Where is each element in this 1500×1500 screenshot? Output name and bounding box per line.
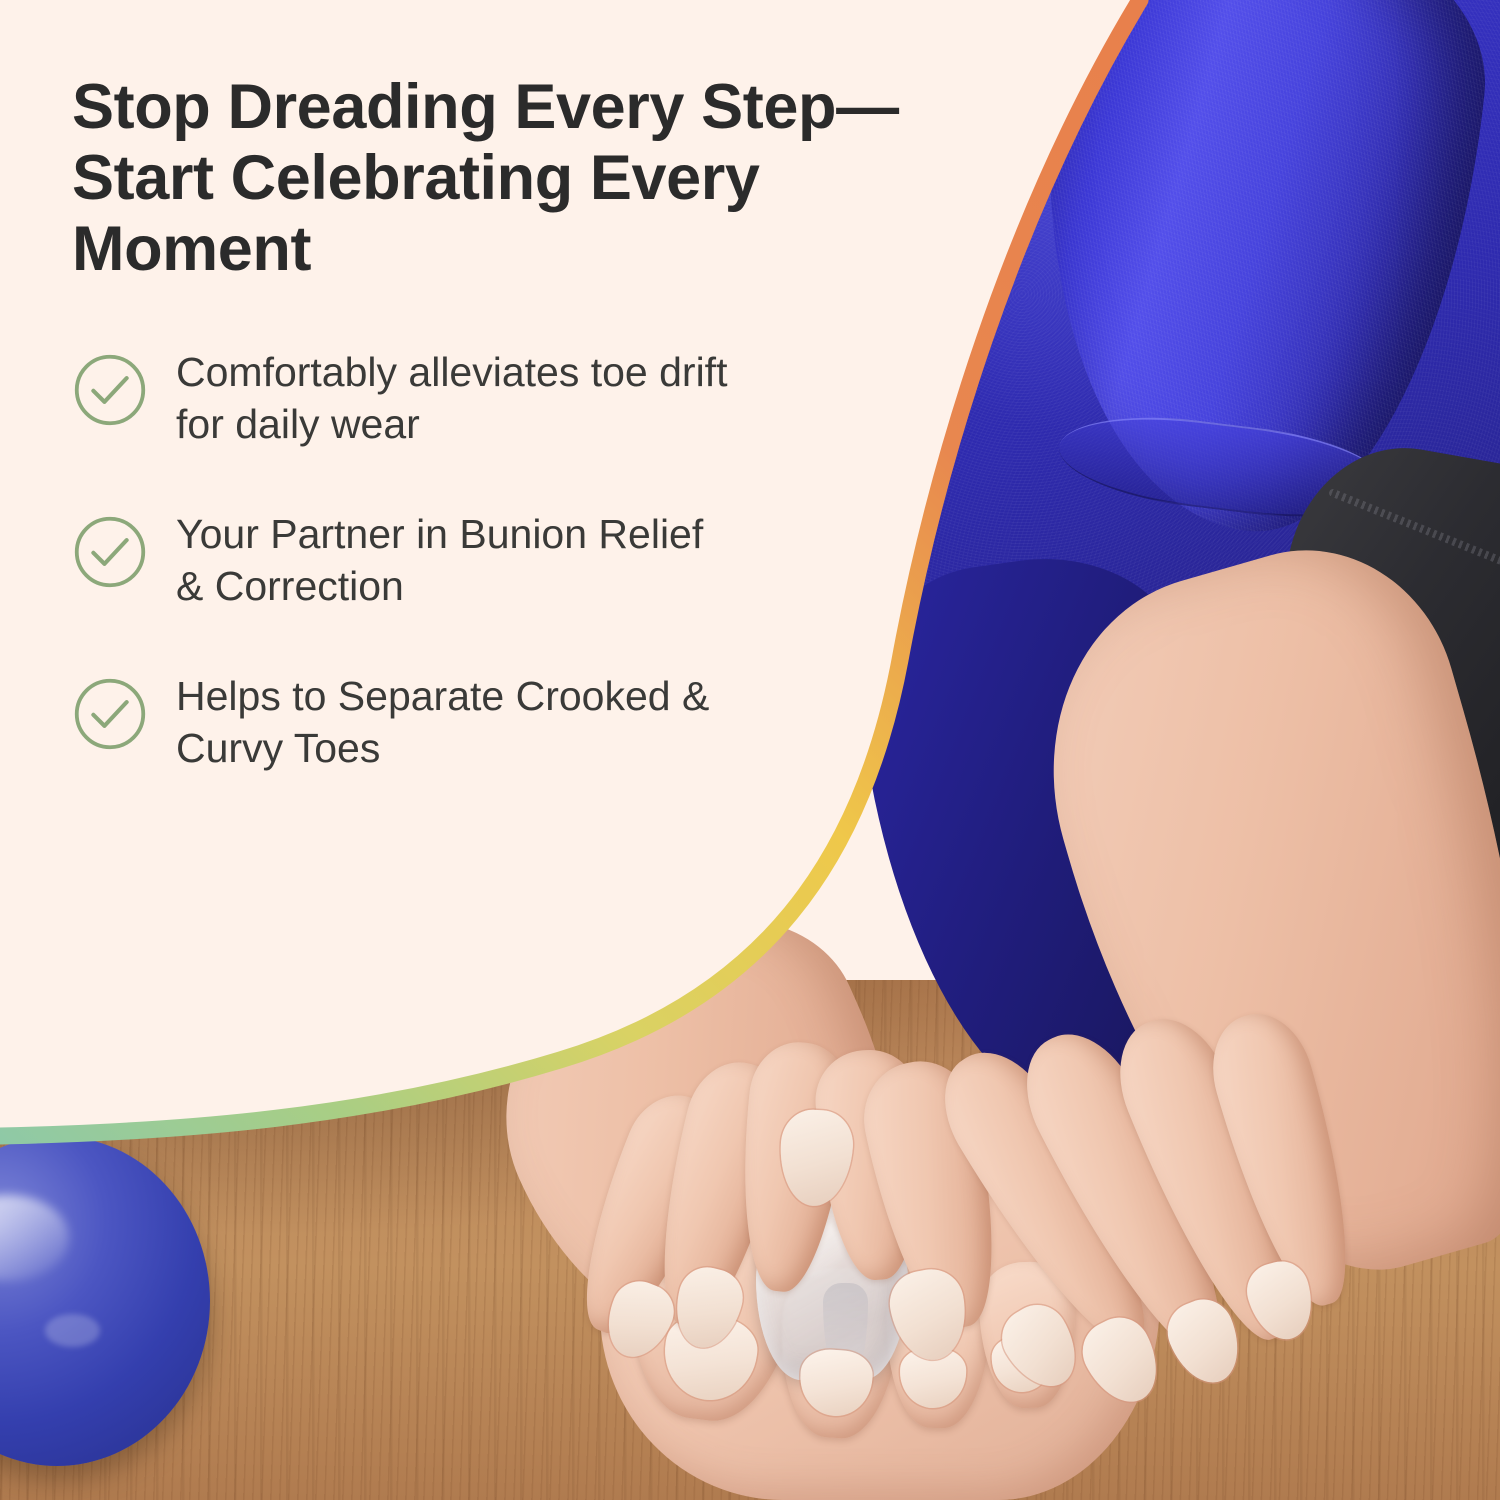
- list-item: Your Partner in Bunion Relief & Correcti…: [72, 508, 1000, 612]
- check-circle-icon: [72, 352, 148, 428]
- list-item-label: Your Partner in Bunion Relief & Correcti…: [176, 508, 736, 612]
- check-circle-icon: [72, 676, 148, 752]
- list-item-label: Comfortably alleviates toe drift for dai…: [176, 346, 736, 450]
- list-item: Comfortably alleviates toe drift for dai…: [72, 346, 1000, 450]
- benefit-list: Comfortably alleviates toe drift for dai…: [72, 346, 1000, 774]
- product-feature-ad: Stop Dreading Every Step—Start Celebrati…: [0, 0, 1500, 1500]
- check-circle-icon: [72, 514, 148, 590]
- copy-block: Stop Dreading Every Step—Start Celebrati…: [0, 0, 1000, 1150]
- list-item: Helps to Separate Crooked & Curvy Toes: [72, 670, 1000, 774]
- page-title: Stop Dreading Every Step—Start Celebrati…: [72, 72, 952, 286]
- list-item-label: Helps to Separate Crooked & Curvy Toes: [176, 670, 736, 774]
